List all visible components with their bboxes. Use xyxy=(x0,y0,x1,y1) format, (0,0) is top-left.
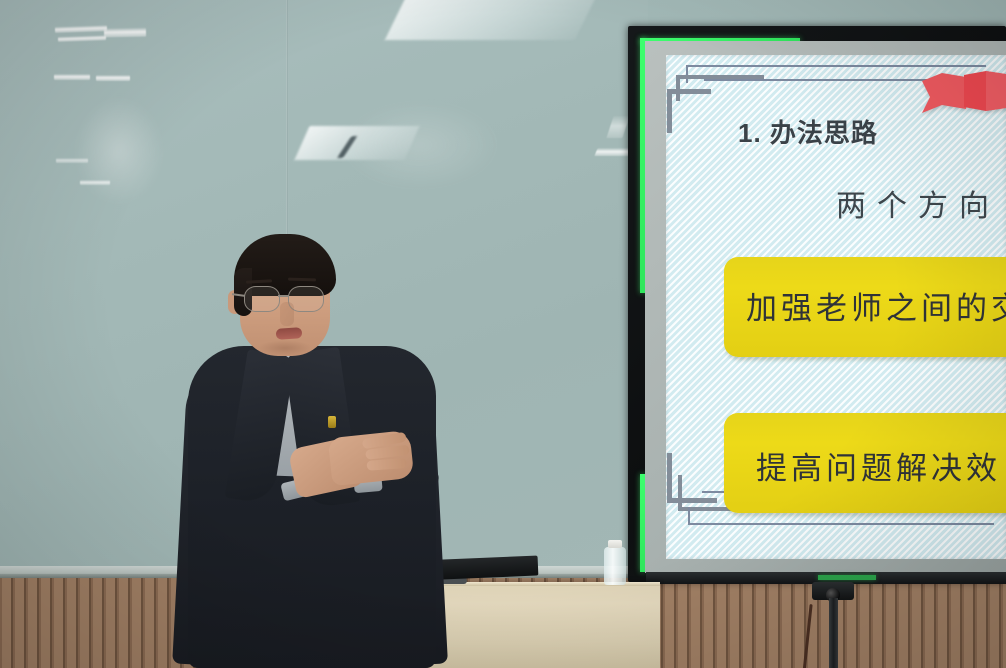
lapel-badge xyxy=(328,416,336,428)
slide-bullet-box-1[interactable]: 加强老师之间的交 xyxy=(724,257,1006,357)
screen-status-led xyxy=(818,575,876,580)
light-reflection xyxy=(606,116,629,138)
slide-bullet-box-2[interactable]: 提高问题解决效 xyxy=(724,413,1006,513)
finger xyxy=(366,458,407,471)
slide-subtitle: 两个方向 xyxy=(836,181,1000,225)
lecture-room-photo: 1. 办法思路 两个方向 加强老师之间的交 提高问题解决效 xyxy=(0,0,1006,668)
bottle-cap xyxy=(608,540,622,548)
glasses-lens-left xyxy=(244,286,280,312)
presentation-slide[interactable]: 1. 办法思路 两个方向 加强老师之间的交 提高问题解决效 xyxy=(666,55,1006,559)
ceiling-panel-reflection xyxy=(385,0,601,40)
light-reflection xyxy=(58,35,106,42)
light-glow xyxy=(74,96,164,206)
presenter xyxy=(176,228,444,668)
water-bottle[interactable] xyxy=(602,540,628,584)
mouth xyxy=(276,327,303,340)
projection-screen[interactable]: 1. 办法思路 两个方向 加强老师之间的交 提高问题解决效 xyxy=(628,26,1006,582)
glasses-bridge xyxy=(278,295,289,297)
light-reflection xyxy=(96,75,130,81)
camera-stand xyxy=(829,598,838,668)
light-reflection xyxy=(80,180,110,185)
light-reflection xyxy=(104,28,146,38)
light-glow xyxy=(340,100,500,190)
red-ribbon-icon xyxy=(922,71,1006,115)
ceiling-panel-reflection xyxy=(294,126,419,160)
chin-shadow xyxy=(258,340,312,356)
bottle-body xyxy=(604,547,626,585)
hand-right xyxy=(328,430,415,486)
light-reflection xyxy=(56,158,88,163)
slide-bullet-text-1: 加强老师之间的交 xyxy=(746,283,1006,328)
slide-bullet-text-2: 提高问题解决效 xyxy=(756,443,1001,488)
nose xyxy=(280,302,294,326)
light-reflection xyxy=(54,74,90,80)
slide-title: 1. 办法思路 xyxy=(738,113,878,150)
light-reflection xyxy=(55,25,107,33)
